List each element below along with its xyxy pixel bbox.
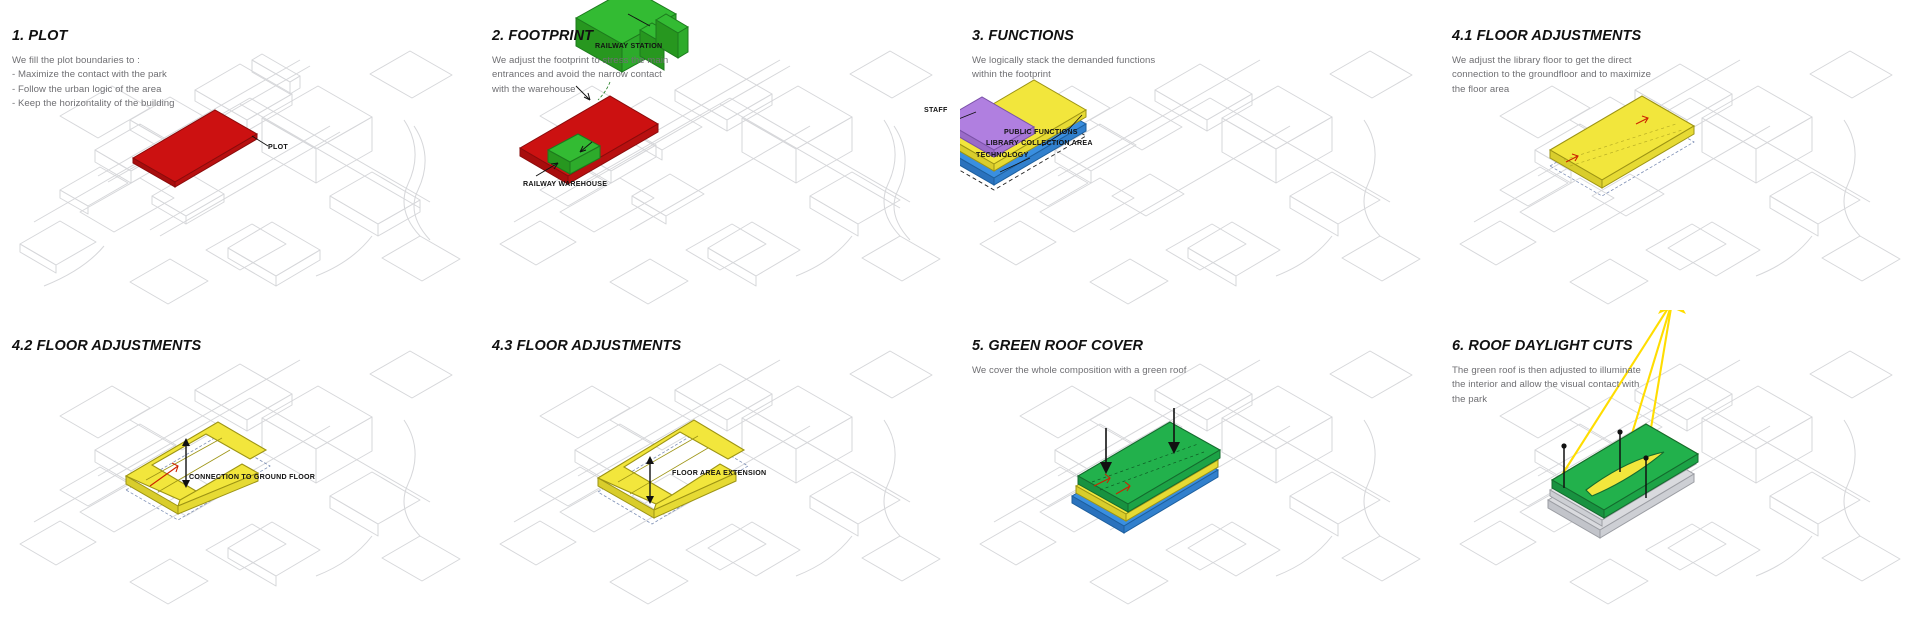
- panel-roof-daylight-cuts-text: 6. ROOF DAYLIGHT CUTS The green roof is …: [1452, 338, 1682, 407]
- panel-roof-daylight-cuts-body: The green roof is then adjusted to illum…: [1452, 364, 1682, 407]
- railway-warehouse-label: RAILWAY WAREHOUSE: [523, 180, 607, 188]
- panel-functions-body: We logically stack the demanded function…: [972, 54, 1202, 83]
- panel-functions-text: 3. FUNCTIONS We logically stack the dema…: [972, 28, 1202, 83]
- library-collection-area-label: LIBRARY COLLECTION AREA: [986, 139, 1093, 147]
- panel-footprint: 2. FOOTPRINT We adjust the footprint to …: [480, 0, 960, 310]
- panel-green-roof-cover-body: We cover the whole composition with a gr…: [972, 364, 1202, 378]
- panel-plot-text: 1. PLOT We fill the plot boundaries to :…: [12, 28, 242, 112]
- panel-floor-adjustments-2: 4.2 FLOOR ADJUSTMENTS CONNECTION TO GROU…: [0, 310, 480, 620]
- railway-station-label: RAILWAY STATION: [595, 42, 662, 50]
- panel-plot: 1. PLOT We fill the plot boundaries to :…: [0, 0, 480, 310]
- panel-floor-adjustments-3-text: 4.3 FLOOR ADJUSTMENTS: [492, 338, 722, 364]
- panel-floor-adjustments-3-title: 4.3 FLOOR ADJUSTMENTS: [492, 338, 722, 354]
- panel-roof-daylight-cuts: 6. ROOF DAYLIGHT CUTS The green roof is …: [1440, 310, 1920, 620]
- plot-label: PLOT: [268, 143, 288, 151]
- panel-green-roof-cover: 5. GREEN ROOF COVER We cover the whole c…: [960, 310, 1440, 620]
- technology-label: TECHNOLOGY: [976, 151, 1029, 159]
- panel-plot-body: We fill the plot boundaries to : - Maxim…: [12, 54, 242, 112]
- staff-label: STAFF: [924, 106, 948, 114]
- panel-floor-adjustments-1: 4.1 FLOOR ADJUSTMENTS We adjust the libr…: [1440, 0, 1920, 310]
- panel-functions-title: 3. FUNCTIONS: [972, 28, 1202, 44]
- panel-floor-adjustments-2-title: 4.2 FLOOR ADJUSTMENTS: [12, 338, 242, 354]
- panel-floor-adjustments-1-text: 4.1 FLOOR ADJUSTMENTS We adjust the libr…: [1452, 28, 1682, 97]
- diagram-sheet: 1. PLOT We fill the plot boundaries to :…: [0, 0, 1920, 620]
- panel-floor-adjustments-1-title: 4.1 FLOOR ADJUSTMENTS: [1452, 28, 1682, 44]
- panel-footprint-body: We adjust the footprint to stress the ma…: [492, 54, 722, 97]
- panel-plot-title: 1. PLOT: [12, 28, 242, 44]
- sun-icon: [1654, 310, 1690, 314]
- panel-green-roof-cover-title: 5. GREEN ROOF COVER: [972, 338, 1202, 354]
- public-functions-label: PUBLIC FUNCTIONS: [1004, 128, 1078, 136]
- panel-floor-adjustments-1-body: We adjust the library floor to get the d…: [1452, 54, 1682, 97]
- connection-to-ground-floor-label: CONNECTION TO GROUND FLOOR: [189, 473, 315, 481]
- panel-floor-adjustments-3: 4.3 FLOOR ADJUSTMENTS FLOOR AREA EXTENSI…: [480, 310, 960, 620]
- panel-roof-daylight-cuts-title: 6. ROOF DAYLIGHT CUTS: [1452, 338, 1682, 354]
- u-shaped-floor-yellow: [126, 422, 266, 514]
- panel-floor-adjustments-2-text: 4.2 FLOOR ADJUSTMENTS: [12, 338, 242, 364]
- panel-green-roof-cover-text: 5. GREEN ROOF COVER We cover the whole c…: [972, 338, 1202, 378]
- plot-volume-red: [133, 110, 257, 187]
- panel-footprint-text: 2. FOOTPRINT We adjust the footprint to …: [492, 28, 722, 97]
- library-floor-yellow: [1550, 96, 1694, 188]
- panel-functions: 3. FUNCTIONS We logically stack the dema…: [960, 0, 1440, 310]
- floor-area-extension-label: FLOOR AREA EXTENSION: [672, 469, 766, 477]
